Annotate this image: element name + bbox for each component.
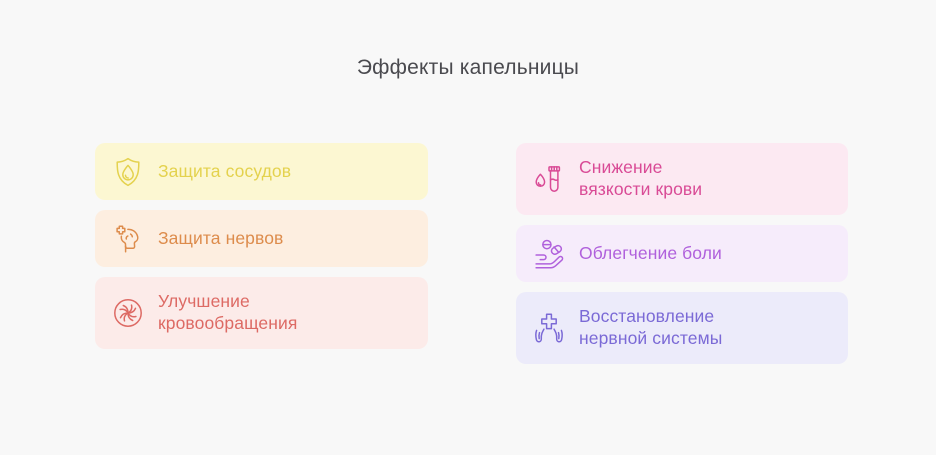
card-nerve-protection[interactable]: Защита нервов bbox=[95, 210, 428, 267]
card-blood-circulation[interactable]: Улучшение кровообращения bbox=[95, 277, 428, 349]
hand-pills-icon bbox=[532, 237, 566, 271]
card-nervous-system-recovery[interactable]: Восстановление нервной системы bbox=[516, 292, 848, 364]
card-pain-relief[interactable]: Облегчение боли bbox=[516, 225, 848, 282]
card-blood-viscosity[interactable]: Снижение вязкости крови bbox=[516, 143, 848, 215]
droplet-testtube-icon bbox=[532, 162, 566, 196]
cards-layout: Защита сосудов Защита нервов bbox=[95, 143, 848, 364]
card-vessel-protection[interactable]: Защита сосудов bbox=[95, 143, 428, 200]
card-label: Облегчение боли bbox=[579, 243, 722, 265]
head-cross-icon bbox=[111, 222, 145, 256]
circulation-swirl-icon bbox=[111, 296, 145, 330]
card-label: Защита нервов bbox=[158, 228, 283, 250]
cards-column-right: Снижение вязкости крови Облегчение боли bbox=[516, 143, 848, 364]
hands-cross-icon bbox=[532, 311, 566, 345]
card-label: Защита сосудов bbox=[158, 161, 291, 183]
page-title: Эффекты капельницы bbox=[0, 56, 936, 80]
shield-droplet-icon bbox=[111, 155, 145, 189]
card-label: Восстановление нервной системы bbox=[579, 306, 722, 349]
infographic-page: Эффекты капельницы Защита сосудов bbox=[0, 0, 936, 455]
card-label: Улучшение кровообращения bbox=[158, 291, 297, 334]
card-label: Снижение вязкости крови bbox=[579, 157, 702, 200]
cards-column-left: Защита сосудов Защита нервов bbox=[95, 143, 428, 349]
